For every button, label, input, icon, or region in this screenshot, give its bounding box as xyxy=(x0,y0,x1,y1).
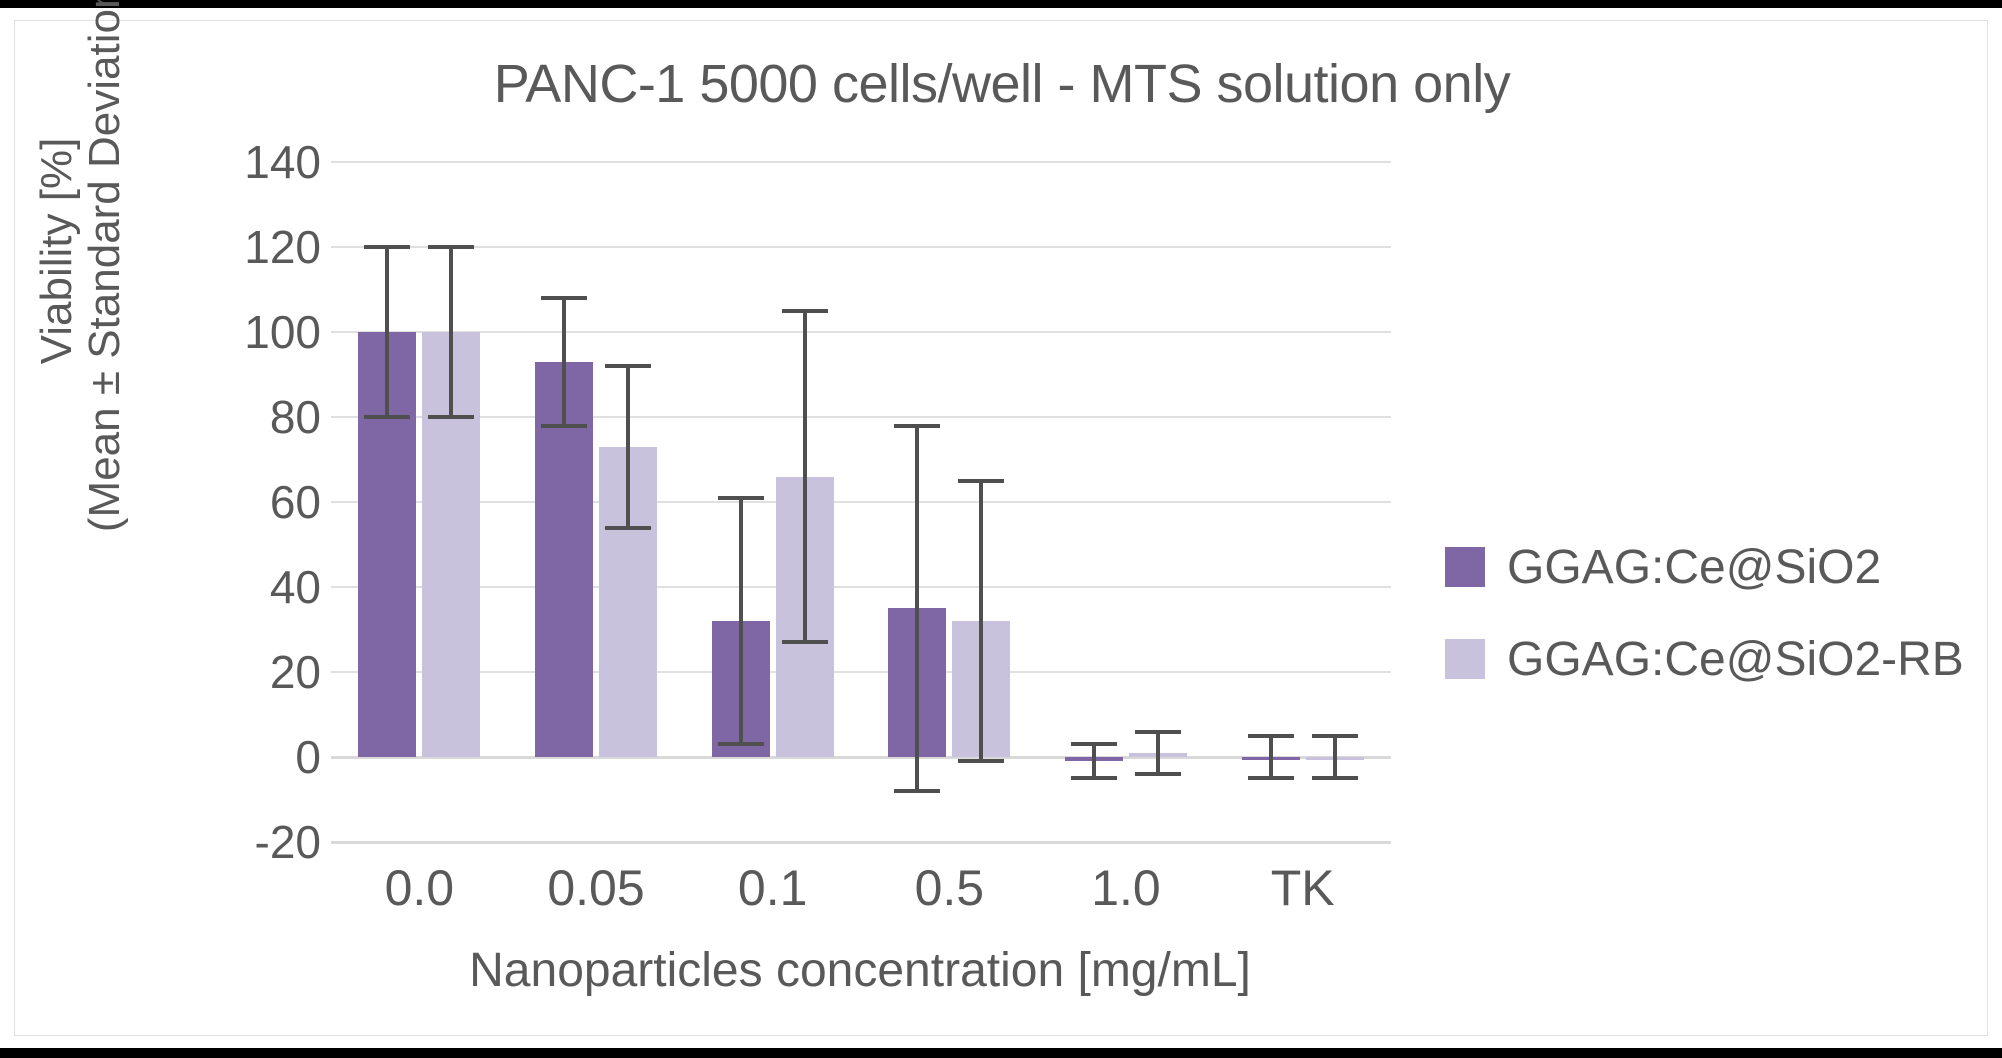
legend-item[interactable]: GGAG:Ce@SiO2-RB xyxy=(1445,613,1965,705)
error-bar-cap-bottom xyxy=(1248,776,1294,780)
y-axis-title: Viability [%] (Mean ± Standard Deviation… xyxy=(33,0,153,561)
error-bar-cap-top xyxy=(364,245,410,249)
bar-group xyxy=(1214,162,1391,842)
y-axis-tick-label: 0 xyxy=(161,730,321,784)
legend-label: GGAG:Ce@SiO2 xyxy=(1507,540,1881,595)
error-bar-line xyxy=(1333,736,1337,779)
chart-legend: GGAG:Ce@SiO2GGAG:Ce@SiO2-RB xyxy=(1445,521,1965,705)
error-bar-line xyxy=(979,481,983,762)
legend-swatch xyxy=(1445,547,1485,587)
legend-item[interactable]: GGAG:Ce@SiO2 xyxy=(1445,521,1965,613)
error-bar-line xyxy=(915,426,919,792)
error-bar-line xyxy=(739,498,743,745)
error-bar-cap-bottom xyxy=(428,415,474,419)
error-bar-cap-top xyxy=(605,364,651,368)
error-bar-line xyxy=(626,366,630,528)
y-axis-title-line1: Viability [%] xyxy=(33,0,81,561)
error-bar-cap-top xyxy=(782,309,828,313)
error-bar-cap-top xyxy=(718,496,764,500)
error-bar-cap-bottom xyxy=(782,640,828,644)
x-axis-tick-label: TK xyxy=(1203,859,1403,917)
error-bar-cap-bottom xyxy=(1312,776,1358,780)
error-bar-cap-top xyxy=(1312,734,1358,738)
error-bar-cap-top xyxy=(1135,730,1181,734)
error-bar-line xyxy=(1269,736,1273,779)
error-bar-line xyxy=(562,298,566,426)
error-bar-cap-bottom xyxy=(894,789,940,793)
chart-canvas: PANC-1 5000 cells/well - MTS solution on… xyxy=(14,20,1988,1036)
x-axis-tick-label: 0.0 xyxy=(319,859,519,917)
x-axis-tick-label: 0.5 xyxy=(849,859,1049,917)
error-bar-line xyxy=(385,247,389,417)
chart-frame: PANC-1 5000 cells/well - MTS solution on… xyxy=(0,8,2002,1048)
y-axis-tick-label: 140 xyxy=(161,135,321,189)
y-axis-tick-label: 80 xyxy=(161,390,321,444)
x-axis-tick-label: 0.05 xyxy=(496,859,696,917)
error-bar-cap-bottom xyxy=(1135,772,1181,776)
error-bar-line xyxy=(449,247,453,417)
y-axis-tick-label: 20 xyxy=(161,645,321,699)
error-bar-cap-bottom xyxy=(541,424,587,428)
legend-swatch xyxy=(1445,639,1485,679)
bar-group xyxy=(331,162,508,842)
y-axis-tick-label: -20 xyxy=(161,815,321,869)
error-bar-cap-bottom xyxy=(718,742,764,746)
bar-group xyxy=(508,162,685,842)
error-bar-line xyxy=(1092,744,1096,778)
bar-group xyxy=(861,162,1038,842)
error-bar-cap-bottom xyxy=(1071,776,1117,780)
error-bar-cap-top xyxy=(541,296,587,300)
chart-title: PANC-1 5000 cells/well - MTS solution on… xyxy=(15,53,1989,115)
error-bar-cap-top xyxy=(894,424,940,428)
error-bar-cap-top xyxy=(1248,734,1294,738)
error-bar-cap-top xyxy=(428,245,474,249)
error-bar-cap-bottom xyxy=(958,759,1004,763)
y-axis-tick-label: 100 xyxy=(161,305,321,359)
bar-group xyxy=(1038,162,1215,842)
error-bar-line xyxy=(803,311,807,643)
y-axis-tick-labels: 140120100806040200-20 xyxy=(145,162,321,842)
y-axis-title-line2: (Mean ± Standard Deviation) xyxy=(81,0,129,561)
error-bar-cap-bottom xyxy=(364,415,410,419)
x-axis-tick-labels: 0.00.050.10.51.0TK xyxy=(331,859,1391,929)
error-bar-cap-top xyxy=(958,479,1004,483)
error-bar-cap-bottom xyxy=(605,526,651,530)
y-axis-tick-label: 120 xyxy=(161,220,321,274)
legend-label: GGAG:Ce@SiO2-RB xyxy=(1507,632,1964,687)
error-bar-cap-top xyxy=(1071,742,1117,746)
bar-group xyxy=(684,162,861,842)
x-axis-tick-label: 1.0 xyxy=(1026,859,1226,917)
y-axis-tick-label: 40 xyxy=(161,560,321,614)
y-axis-tick-label: 60 xyxy=(161,475,321,529)
x-axis-title: Nanoparticles concentration [mg/mL] xyxy=(185,943,1535,998)
x-axis-tick-label: 0.1 xyxy=(673,859,873,917)
error-bar-line xyxy=(1156,732,1160,775)
plot-area xyxy=(331,162,1391,842)
